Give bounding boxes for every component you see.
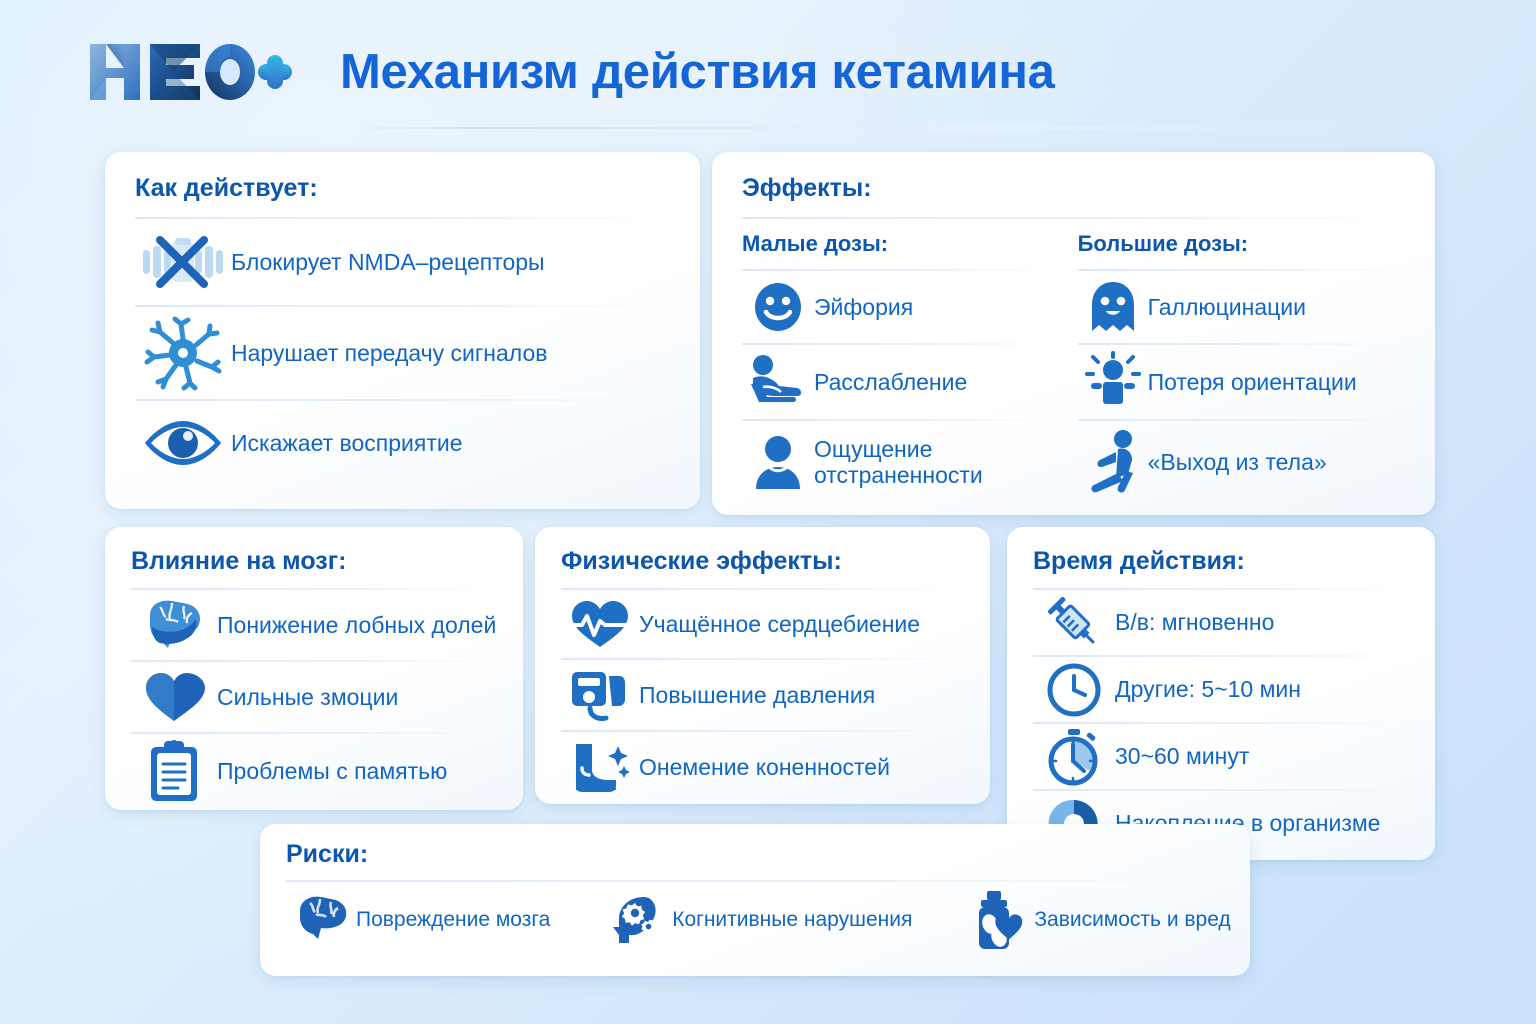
list-item-label: Онемение коненностей <box>639 754 890 780</box>
list-item[interactable]: Сильные змоции <box>131 662 497 732</box>
page-header: Механизм действия кетамина <box>0 0 1536 132</box>
brain-icon <box>131 597 217 653</box>
list-item-label: Повреждение мозга <box>356 908 550 932</box>
effects-column-high-dose: Большие дозы: Галлюцинации <box>1078 231 1405 503</box>
list-item[interactable]: «Выход из тела» <box>1078 421 1405 503</box>
heart-pulse-icon <box>561 598 639 650</box>
list-item[interactable]: Расслабление <box>742 345 1052 419</box>
brain-damage-icon <box>286 894 356 946</box>
list-item[interactable]: Повреждение мозга <box>286 894 550 946</box>
effects-column-low-dose: Малые дозы: Эйфория <box>742 231 1052 503</box>
list-item[interactable]: В/в: мгновенно <box>1033 590 1409 655</box>
list-item-label: Понижение лобных долей <box>217 612 496 638</box>
list-item[interactable]: Эйфория <box>742 271 1052 343</box>
syringe-icon <box>1033 594 1115 652</box>
header-divider <box>340 127 1430 129</box>
list-item-label: Искажает восприятие <box>231 430 463 456</box>
head-gears-icon <box>602 891 672 949</box>
person-icon <box>742 434 814 490</box>
blood-pressure-monitor-icon <box>561 666 639 724</box>
list-item-label: Проблемы с памятью <box>217 758 447 784</box>
list-item[interactable]: Другие: 5~10 мин <box>1033 657 1409 722</box>
brand-logo <box>88 42 293 104</box>
list-item[interactable]: Зависимость и вред <box>964 890 1230 950</box>
divider <box>742 217 1405 219</box>
column-title: Малые дозы: <box>742 231 1052 257</box>
list-item[interactable]: Галлюцинации <box>1078 271 1405 343</box>
list-item-label: Повышение давления <box>639 682 875 708</box>
list-item[interactable]: 30~60 минут <box>1033 724 1409 789</box>
list-item-label: Блокирует NMDA–рецепторы <box>231 249 545 275</box>
list-item-label: «Выход из тела» <box>1148 449 1327 475</box>
clock-icon <box>1033 662 1115 718</box>
list-item[interactable]: Искажает восприятие <box>135 401 670 485</box>
card-title: Эффекты: <box>742 174 1405 203</box>
list-item[interactable]: Онемение коненностей <box>561 732 964 802</box>
list-item-label: Зависимость и вред <box>1034 908 1230 932</box>
floating-person-icon <box>1078 429 1148 495</box>
card-title: Время действия: <box>1033 547 1409 576</box>
list-item[interactable]: Когнитивные нарушения <box>602 891 912 949</box>
list-item-label: Галлюцинации <box>1148 294 1306 320</box>
card-title: Физические эффекты: <box>561 547 964 576</box>
list-item-label: Расслабление <box>814 369 967 395</box>
smiley-icon <box>742 281 814 333</box>
list-item-label: Другие: 5~10 мин <box>1115 676 1301 702</box>
list-item[interactable]: Ощущение отстраненности <box>742 421 1052 503</box>
stopwatch-icon <box>1033 728 1115 786</box>
page-title: Механизм действия кетамина <box>340 44 1055 100</box>
logo-neo-plus-icon <box>88 42 293 104</box>
list-item-label: Учащённое сердцебиение <box>639 611 920 637</box>
card-onset-duration: Время действия: В/в: мгновенно <box>1007 527 1435 860</box>
list-item[interactable]: Проблемы с памятью <box>131 734 497 808</box>
list-item-label: Эйфория <box>814 294 913 320</box>
card-title: Риски: <box>286 840 1224 869</box>
ghost-icon <box>1078 280 1148 334</box>
card-title: Как действует: <box>135 174 670 203</box>
numb-foot-icon <box>561 740 639 794</box>
card-title: Влияние на мозг: <box>131 547 497 576</box>
list-item[interactable]: Нарушает передачу сигналов <box>135 307 670 399</box>
card-risks: Риски: Повреждение мозга <box>260 824 1250 976</box>
card-effects: Эффекты: Малые дозы: Эйфория <box>712 152 1435 515</box>
list-item-label: 30~60 минут <box>1115 743 1249 769</box>
pill-bottle-icon <box>964 890 1034 950</box>
relaxing-person-icon <box>742 354 814 410</box>
list-item-label: Когнитивные нарушения <box>672 908 912 932</box>
card-brain-impact: Влияние на мозг: Понижение лобных долей <box>105 527 523 810</box>
list-item-label: Нарушает передачу сигналов <box>231 340 547 366</box>
list-item[interactable]: Повышение давления <box>561 660 964 730</box>
clipboard-icon <box>131 739 217 803</box>
column-title: Большие дозы: <box>1078 231 1405 257</box>
list-item[interactable]: Потеря ориентации <box>1078 345 1405 419</box>
card-how-it-works: Как действует: <box>105 152 700 509</box>
list-item-label: В/в: мгновенно <box>1115 609 1274 635</box>
eye-icon <box>135 418 231 468</box>
list-item-label: Сильные змоции <box>217 684 398 710</box>
list-item[interactable]: Блокирует NMDA–рецепторы <box>135 219 670 305</box>
heart-icon <box>131 670 217 724</box>
list-item[interactable]: Понижение лобных долей <box>131 590 497 660</box>
neuron-icon <box>135 317 231 389</box>
list-item[interactable]: Учащённое сердцебиение <box>561 590 964 658</box>
list-item-label: Потеря ориентации <box>1148 369 1357 395</box>
blocked-receptor-icon <box>135 234 231 290</box>
list-item-label: Ощущение отстраненности <box>814 436 983 488</box>
dizzy-person-icon <box>1078 354 1148 410</box>
card-physical-effects: Физические эффекты: Учащённое сердцебиен… <box>535 527 990 804</box>
